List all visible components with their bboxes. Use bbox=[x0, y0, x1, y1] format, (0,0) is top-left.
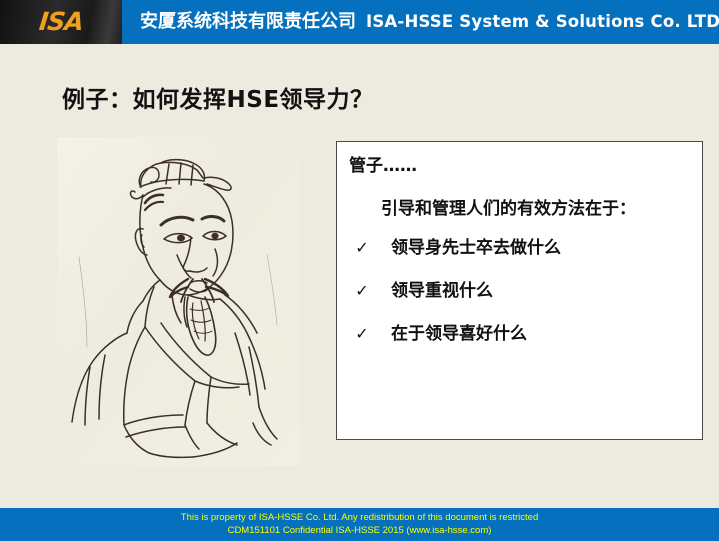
slide-footer: This is property of ISA-HSSE Co. Ltd. An… bbox=[0, 508, 719, 541]
checkmark-icon: ✓ bbox=[347, 323, 377, 345]
list-item: ✓ 领导身先士卒去做什么 bbox=[347, 237, 697, 280]
footer-document-line: CDM151101 Confidential ISA-HSSE 2015 (ww… bbox=[0, 525, 719, 538]
header-company-name-cn: 安厦系统科技有限责任公司 bbox=[140, 11, 356, 32]
logo-panel: ISA bbox=[0, 0, 122, 44]
isa-logo-icon: ISA bbox=[23, 9, 100, 35]
checkmark-icon: ✓ bbox=[347, 280, 377, 302]
bullet-text: 领导重视什么 bbox=[391, 280, 493, 302]
bullet-list: ✓ 领导身先士卒去做什么 ✓ 领导重视什么 ✓ 在于领导喜好什么 bbox=[347, 237, 697, 366]
footer-copyright-line: This is property of ISA-HSSE Co. Ltd. An… bbox=[0, 512, 719, 525]
list-item: ✓ 在于领导喜好什么 bbox=[347, 323, 697, 366]
slide-header: ISA 安厦系统科技有限责任公司ISA-HSSE System & Soluti… bbox=[0, 0, 719, 44]
page-title: 例子：如何发挥HSE领导力？ bbox=[62, 80, 374, 114]
portrait-image bbox=[57, 137, 300, 466]
quote-textbox: 管子…… 引导和管理人们的有效方法在于： ✓ 领导身先士卒去做什么 ✓ 领导重视… bbox=[336, 141, 703, 440]
quote-subheading: 引导和管理人们的有效方法在于： bbox=[381, 194, 636, 219]
header-company-title: 安厦系统科技有限责任公司ISA-HSSE System & Solutions … bbox=[140, 0, 719, 44]
header-company-name-en: ISA-HSSE System & Solutions Co. LTD bbox=[366, 12, 719, 31]
list-item: ✓ 领导重视什么 bbox=[347, 280, 697, 323]
portrait-line-drawing-icon bbox=[57, 137, 300, 466]
quote-heading: 管子…… bbox=[349, 151, 417, 176]
bullet-text: 在于领导喜好什么 bbox=[391, 323, 527, 345]
checkmark-icon: ✓ bbox=[347, 237, 377, 259]
bullet-text: 领导身先士卒去做什么 bbox=[391, 237, 561, 259]
